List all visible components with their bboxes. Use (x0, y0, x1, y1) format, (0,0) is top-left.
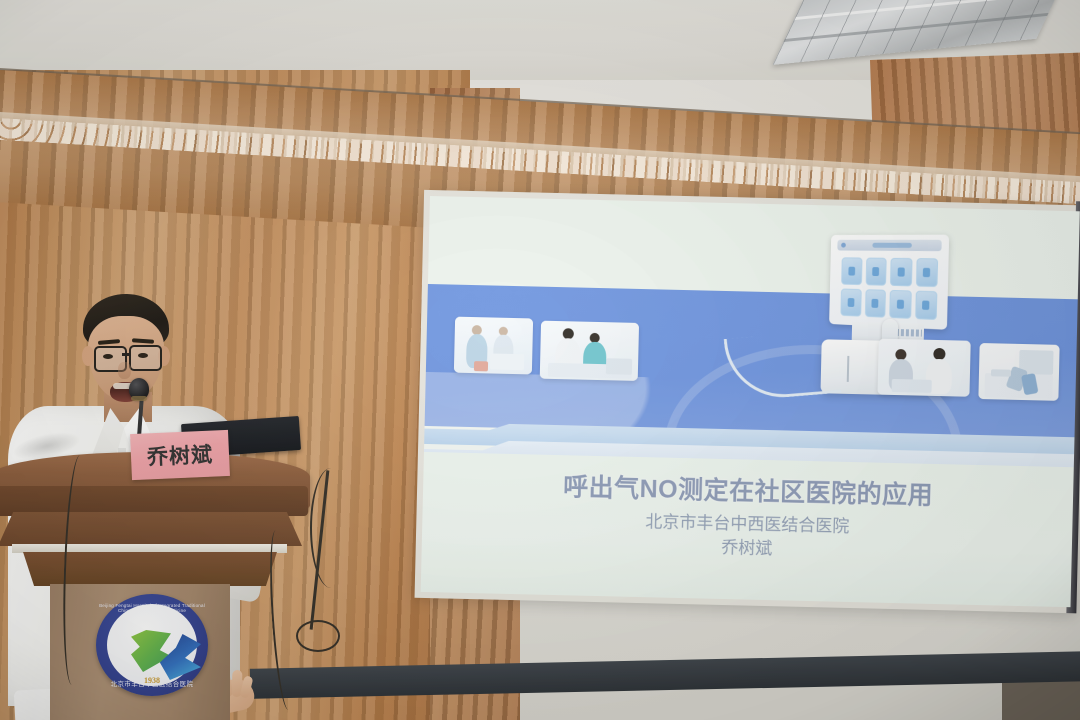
device-app-icon (889, 290, 911, 319)
eye-left (103, 354, 113, 359)
device-app-icon (865, 258, 886, 286)
photo-scene: 呼出气NO测定在社区医院的应用 北京市丰台中西医结合医院 乔树斌 (0, 0, 1080, 720)
hospital-logo: Beijing Fengtai Hospital of Integrated T… (96, 594, 208, 696)
photo-card-clinic-consult-1 (454, 317, 533, 375)
projected-slide: 呼出气NO测定在社区医院的应用 北京市丰台中西医结合医院 乔树斌 (421, 196, 1080, 607)
photo-card-device-bedside (978, 343, 1059, 401)
podium-mid-band (12, 552, 288, 586)
device-app-icon (841, 257, 862, 285)
device-app-icon (864, 289, 885, 318)
nameplate-text: 乔树斌 (146, 439, 213, 472)
nose (118, 362, 131, 379)
cable-loop (296, 620, 340, 652)
eyeglasses-bridge (122, 353, 131, 356)
projection-screen: 呼出气NO测定在社区医院的应用 北京市丰台中西医结合医院 乔树斌 (421, 196, 1080, 611)
device-app-icon (890, 258, 912, 287)
eye-right (138, 353, 148, 358)
logo-founding-year: 1938 (107, 676, 197, 685)
device-app-icon (840, 288, 861, 316)
device-touchscreen (829, 235, 949, 330)
device-app-icon (915, 291, 938, 320)
podium-top-face (0, 486, 308, 516)
photo-card-clinic-consult-3 (877, 339, 970, 397)
device-app-icon (915, 258, 938, 287)
speaker-nameplate: 乔树斌 (130, 430, 230, 480)
logo-inner-disc: 1938 (107, 604, 197, 686)
eyeglasses-lens-right (129, 345, 162, 371)
slide-top-band (428, 196, 1080, 299)
podium-white-trim (12, 544, 287, 553)
ear-left (82, 346, 94, 366)
podium-lip (0, 512, 302, 546)
device-status-label (872, 243, 912, 248)
device-brand-mark (896, 329, 922, 337)
device-app-grid (840, 257, 938, 320)
photo-card-clinic-consult-2 (540, 321, 639, 381)
microphone-clip (131, 396, 147, 401)
